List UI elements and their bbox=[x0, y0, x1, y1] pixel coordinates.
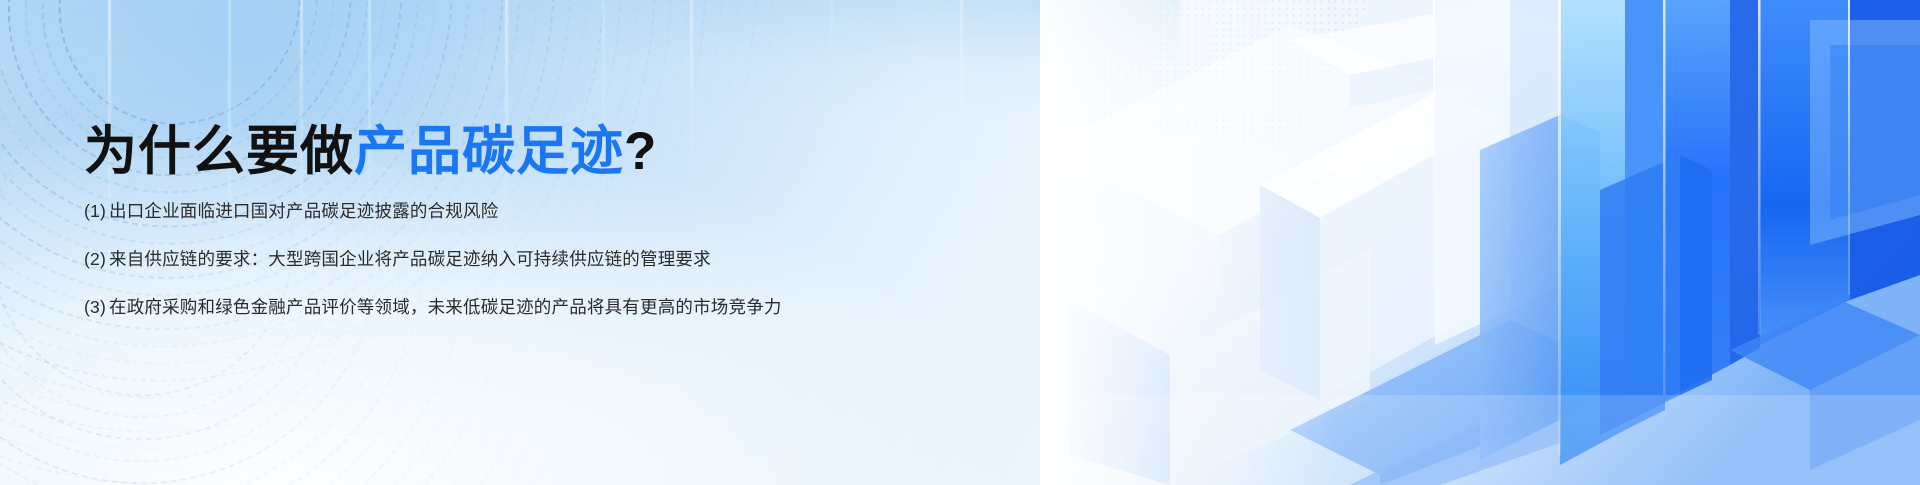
list-item-index: (1) bbox=[84, 201, 106, 221]
list-item: (1)出口企业面临进口国对产品碳足迹披露的合规风险 bbox=[84, 203, 782, 221]
list-item-index: (3) bbox=[84, 297, 106, 317]
reason-list: (1)出口企业面临进口国对产品碳足迹披露的合规风险 (2)来自供应链的要求：大型… bbox=[84, 203, 782, 317]
list-item: (2)来自供应链的要求：大型跨国企业将产品碳足迹纳入可持续供应链的管理要求 bbox=[84, 251, 782, 269]
list-item-label: 来自供应链的要求：大型跨国企业将产品碳足迹纳入可持续供应链的管理要求 bbox=[109, 249, 711, 269]
title-accent: 产品碳足迹 bbox=[354, 122, 624, 181]
hero-banner: 为什么要做产品碳足迹? (1)出口企业面临进口国对产品碳足迹披露的合规风险 (2… bbox=[0, 0, 1920, 485]
list-item-index: (2) bbox=[84, 249, 106, 269]
isometric-glass-graphic bbox=[1040, 0, 1920, 485]
page-title: 为什么要做产品碳足迹? bbox=[84, 120, 657, 184]
title-lead: 为什么要做 bbox=[84, 122, 354, 181]
list-item: (3)在政府采购和绿色金融产品评价等领域，未来低碳足迹的产品将具有更高的市场竞争… bbox=[84, 299, 782, 317]
banner-content: 为什么要做产品碳足迹? (1)出口企业面临进口国对产品碳足迹披露的合规风险 (2… bbox=[0, 0, 1000, 485]
list-item-label: 出口企业面临进口国对产品碳足迹披露的合规风险 bbox=[109, 201, 498, 221]
title-question-mark: ? bbox=[624, 122, 657, 181]
list-item-label: 在政府采购和绿色金融产品评价等领域，未来低碳足迹的产品将具有更高的市场竞争力 bbox=[109, 297, 782, 317]
